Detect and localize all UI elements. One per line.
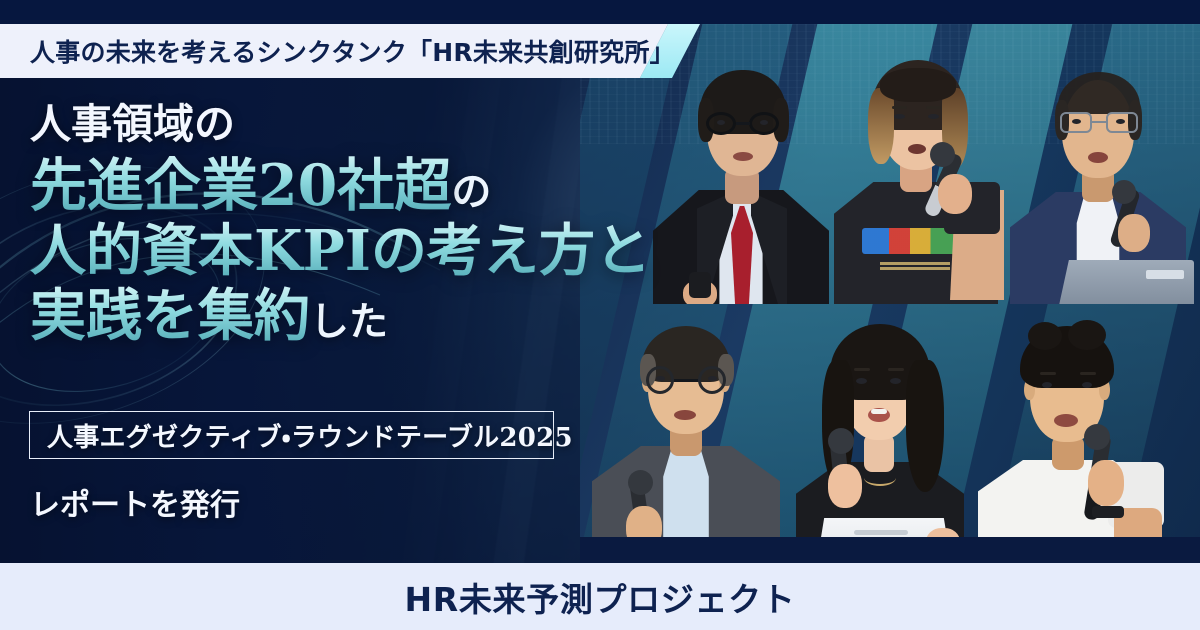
panelist-5-figure — [778, 304, 978, 563]
framed-subtitle-box: 人事エグゼクティブ・ラウンドテーブル2025 — [29, 411, 554, 459]
hair-tuft — [1068, 320, 1106, 350]
closing-line: レポートを発行 — [30, 480, 240, 524]
eye-right — [760, 120, 768, 125]
eye-right — [1082, 382, 1092, 388]
framed-subtitle-text: 人事エグゼクティブ・ラウンドテーブル2025 — [47, 417, 573, 454]
necklace — [864, 470, 896, 486]
eye-left — [1072, 119, 1081, 124]
headline-line-4-accent: 実践を集約 — [30, 283, 310, 349]
mouth — [908, 144, 926, 154]
hand — [938, 174, 972, 214]
brow-right — [888, 368, 904, 371]
brow-left — [854, 368, 870, 371]
brow-right — [1080, 372, 1096, 375]
eye-right — [708, 376, 717, 381]
panelist-photo-3 — [1000, 38, 1196, 304]
brow-left — [892, 106, 907, 109]
headline-block: 人事領域の 先進企業20社超の 人的資本KPIの考え方と 実践を集約した — [30, 104, 630, 344]
eye-left — [1042, 382, 1052, 388]
top-navy-strip — [0, 0, 1200, 24]
microphone-head — [1112, 180, 1136, 204]
panelist-photo-5 — [778, 304, 978, 563]
mouth — [1088, 152, 1108, 163]
hand — [1118, 214, 1150, 252]
footer-project-title: HR未来予測プロジェクト — [405, 573, 796, 621]
laptop-hinge — [854, 530, 908, 535]
headline-line-3-accent: 人的資本KPIの考え方と — [30, 218, 651, 284]
eye-left — [717, 120, 725, 125]
hair-tuft — [1028, 322, 1062, 350]
headline-line-1: 人事領域の — [30, 104, 630, 145]
headline-line-4: 実践を集約した — [30, 288, 630, 344]
remote-control — [689, 272, 711, 298]
panelist-photo-collage — [580, 24, 1200, 563]
eyebrow-label: 人事の未来を考えるシンクタンク「HR未来共創研究所」 — [30, 24, 675, 78]
footer-bar: HR未来予測プロジェクト — [0, 563, 1200, 630]
eye-right — [890, 378, 901, 384]
hand — [828, 464, 862, 508]
headline-line-3: 人的資本KPIの考え方と — [30, 223, 630, 279]
tshirt-subtext — [880, 260, 950, 270]
teeth — [871, 409, 887, 414]
eye-left — [856, 378, 867, 384]
mouth — [674, 410, 696, 420]
brow-left — [1040, 372, 1056, 375]
panelist-2-figure — [818, 32, 1014, 304]
panelist-photo-2 — [818, 32, 1014, 304]
laptop-label — [1146, 270, 1184, 279]
headline-line-2-plain: の — [451, 168, 491, 215]
microphone-head — [1084, 424, 1110, 450]
collage-bottom-fade — [580, 537, 1200, 563]
eye-left — [656, 376, 665, 381]
headline-line-4-plain: した — [310, 299, 388, 345]
eye-left — [894, 114, 905, 119]
hair-fringe — [880, 68, 956, 102]
mouth — [733, 152, 753, 161]
panelist-6-figure — [968, 310, 1168, 563]
brow-right — [926, 106, 941, 109]
headline-line-2: 先進企業20社超の — [30, 157, 630, 214]
eyeglasses — [1058, 112, 1140, 134]
hair-highlight-left — [868, 88, 894, 164]
panelist-4-figure — [588, 310, 788, 563]
eyebrow-banner: 人事の未来を考えるシンクタンク「HR未来共創研究所」 — [0, 24, 700, 78]
panelist-photo-1 — [645, 40, 835, 304]
microphone-head — [930, 142, 955, 167]
panelist-1-figure — [645, 40, 835, 304]
panelist-3-figure — [1000, 38, 1196, 304]
microphone-head — [828, 428, 854, 454]
hair-long-right — [906, 360, 944, 492]
headline-line-2-accent: 先進企業20社超 — [30, 152, 451, 219]
promotional-banner: 人事の未来を考えるシンクタンク「HR未来共創研究所」 人事領域の 先進企業20社… — [0, 0, 1200, 630]
laptop — [1058, 260, 1194, 304]
panelist-photo-4 — [588, 310, 788, 563]
panelist-photo-6 — [968, 310, 1168, 563]
mouth — [1054, 414, 1078, 427]
eye-right — [928, 114, 939, 119]
eyeglasses — [705, 112, 783, 136]
eye-right — [1116, 119, 1125, 124]
wristwatch — [1092, 506, 1124, 518]
microphone-head — [628, 470, 653, 495]
hand — [1088, 460, 1124, 506]
